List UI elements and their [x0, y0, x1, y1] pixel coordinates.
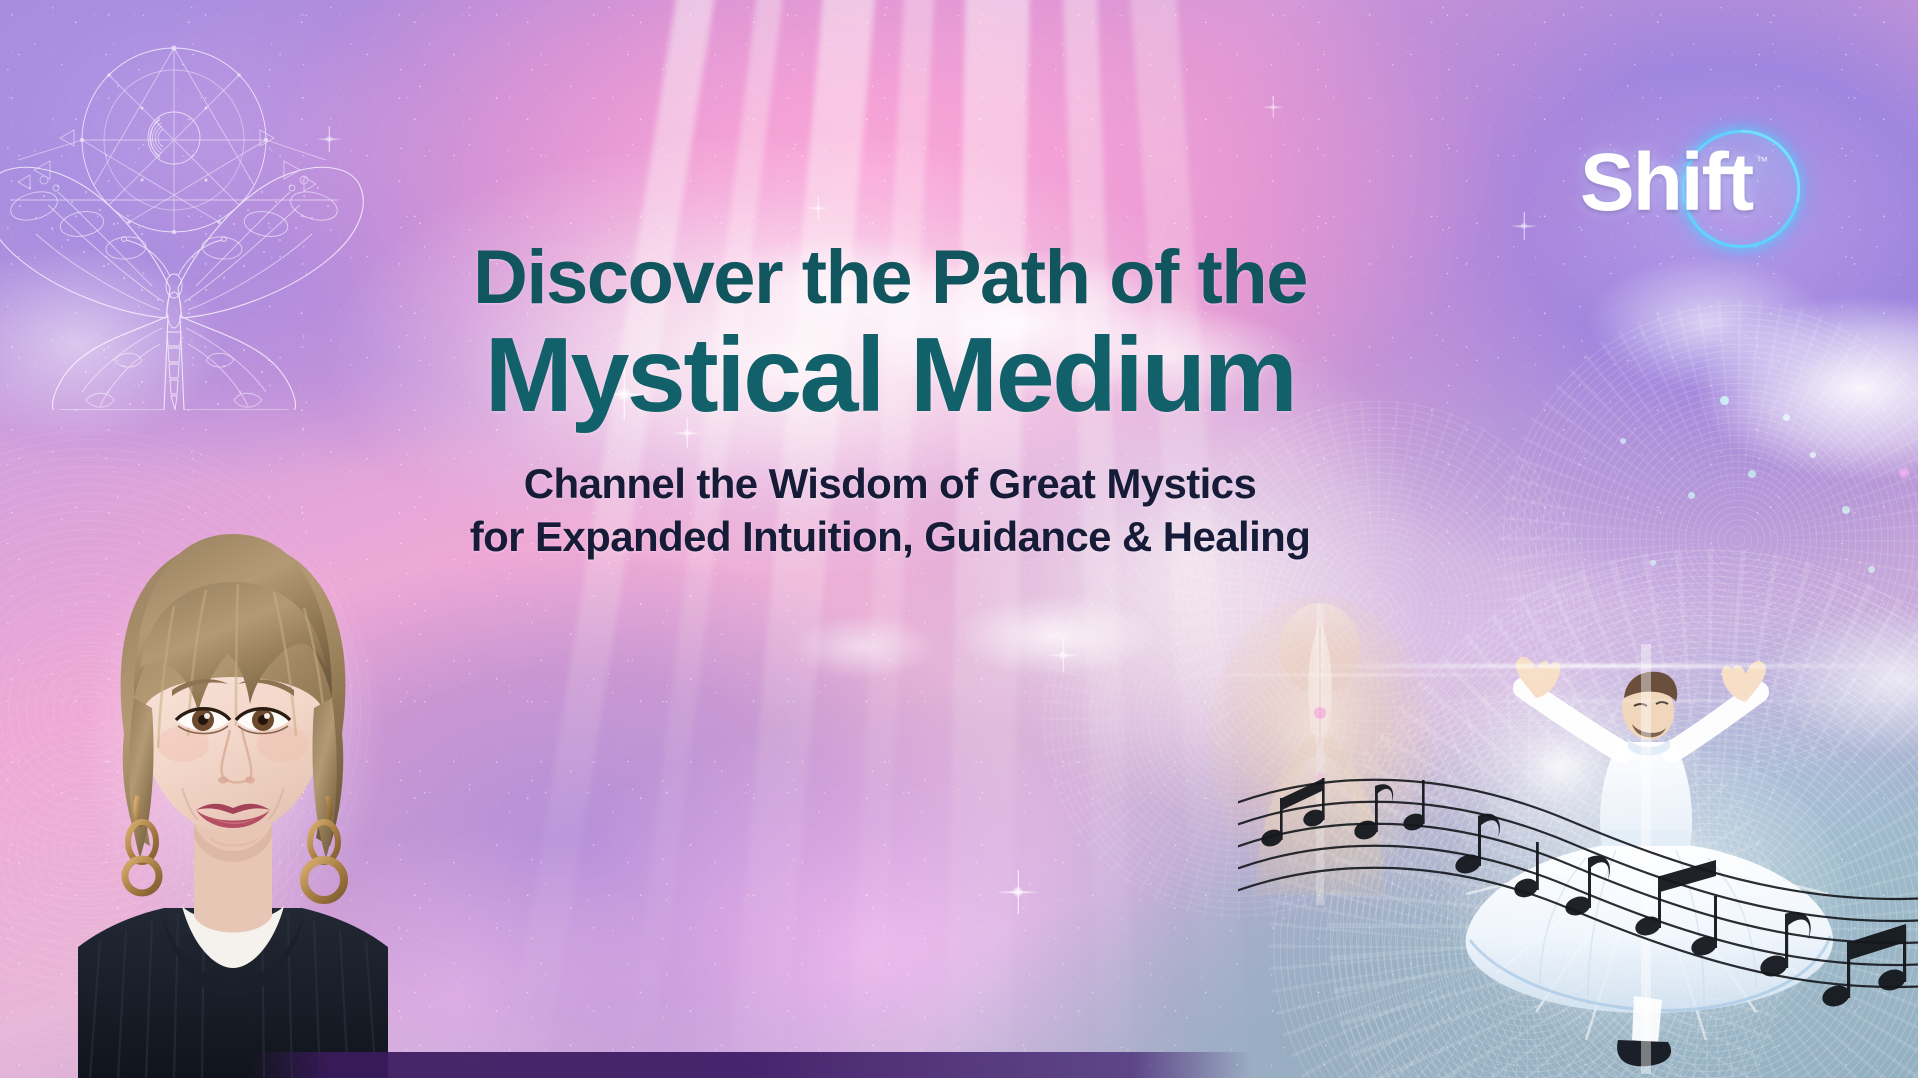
mandala-dotwork-pattern [1328, 548, 1918, 1078]
sparkle-star [1046, 638, 1080, 672]
bokeh-speck [1810, 452, 1816, 458]
bokeh-speck [1783, 414, 1790, 421]
mandala-dotwork-pattern [0, 640, 300, 1060]
bokeh-speck [1620, 438, 1626, 444]
light-streak [1420, 700, 1918, 702]
bokeh-speck [1868, 566, 1875, 573]
headline-line-1: Discover the Path of the [330, 240, 1450, 316]
music-staff-notes [1238, 710, 1918, 1040]
trademark-symbol: ™ [1756, 154, 1768, 168]
bokeh-speck [1842, 506, 1850, 514]
mandala-dotwork-pattern [1498, 300, 1918, 780]
light-streak [1300, 664, 1918, 668]
mandala-dotwork-pattern [1268, 688, 1788, 1078]
butterfly-line-art [0, 10, 374, 410]
whirling-dervish-figure [1436, 644, 1856, 1074]
crescent-moon-icon [148, 112, 200, 164]
mystical-medium-banner: Shift ™ Discover the Path of the Mystica… [0, 0, 1918, 1078]
subheadline-line-1: Channel the Wisdom of Great Mystics [330, 458, 1450, 511]
mandala-dotwork-pattern [0, 430, 370, 990]
subheadline-block: Channel the Wisdom of Great Mystics for … [330, 458, 1450, 564]
bottom-accent-band [250, 1052, 1253, 1078]
earring-left [125, 796, 159, 893]
sparkle-star [1262, 96, 1284, 118]
sparkle-star [996, 870, 1040, 914]
headline-line-2: Mystical Medium [330, 318, 1450, 432]
bokeh-speck [1720, 396, 1729, 405]
sparkle-star [806, 196, 830, 220]
dervish-light-burst [1390, 626, 1730, 906]
shift-logo[interactable]: Shift ™ [1580, 128, 1800, 268]
headline-block: Discover the Path of the Mystical Medium… [330, 240, 1450, 564]
earring-right [304, 796, 344, 900]
bokeh-speck [1650, 560, 1656, 566]
bokeh-speck [1748, 470, 1756, 478]
subheadline-line-2: for Expanded Intuition, Guidance & Heali… [330, 511, 1450, 564]
shift-wordmark: Shift [1580, 142, 1752, 224]
light-streak [1160, 674, 1580, 676]
praying-hands-figure [1195, 585, 1445, 925]
bokeh-speck [1688, 492, 1695, 499]
mandala-dotwork-pattern [1040, 520, 1440, 920]
portrait-backlight [40, 518, 430, 1078]
sparkle-star [1510, 212, 1538, 240]
sparkle-star [316, 126, 342, 152]
bokeh-speck [1897, 466, 1911, 480]
